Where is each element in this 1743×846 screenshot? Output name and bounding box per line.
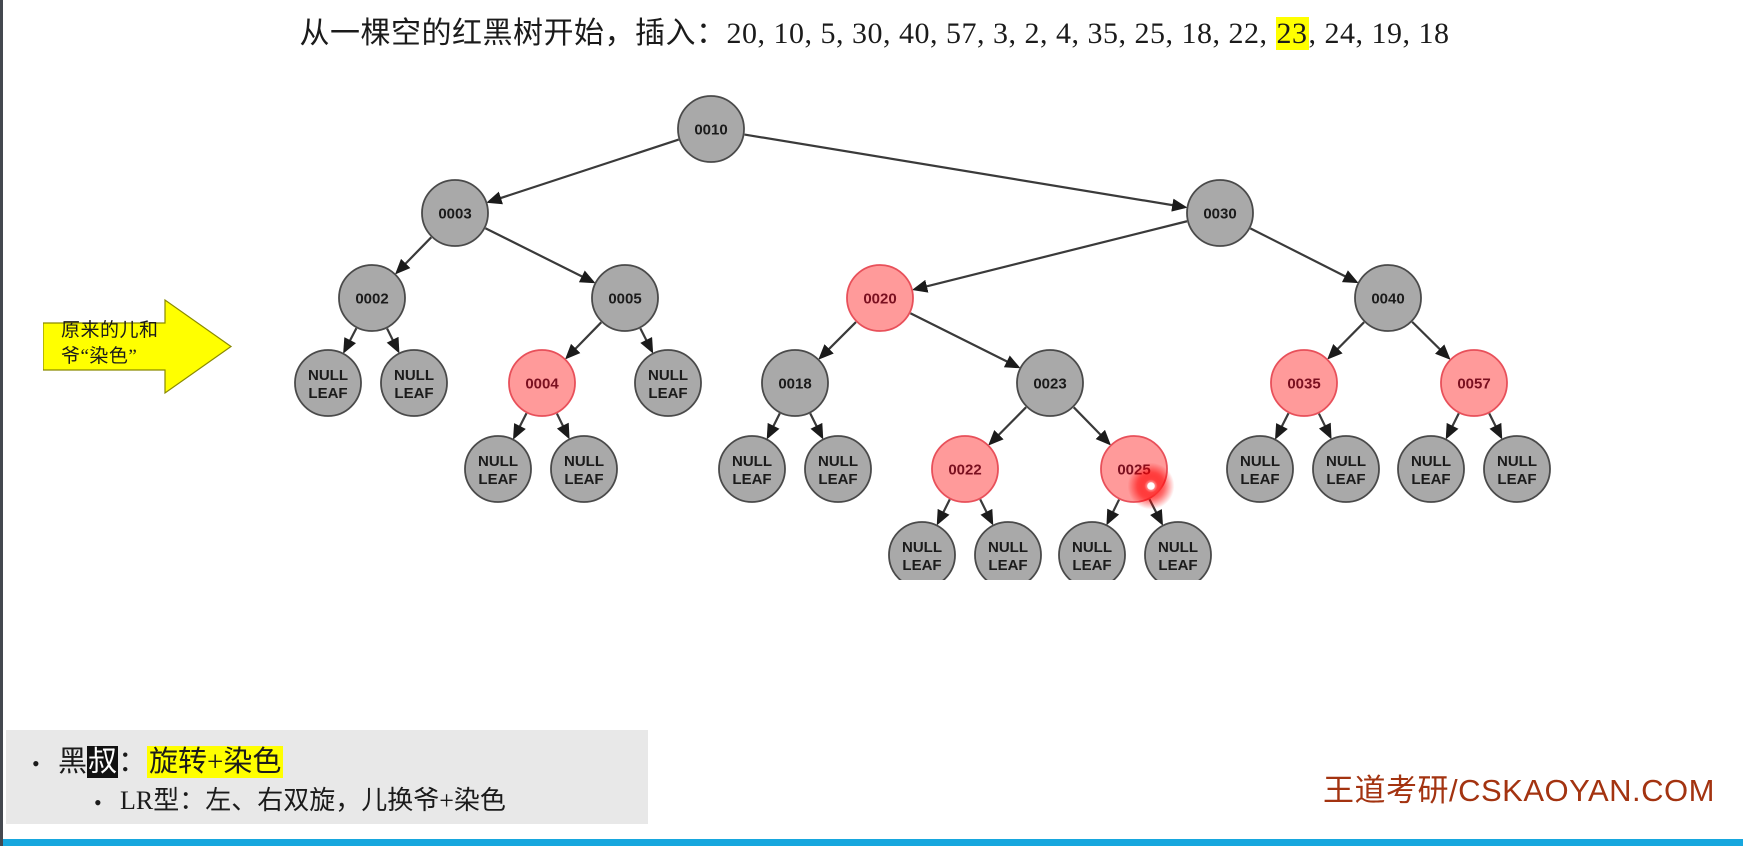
tree-edge (345, 328, 357, 351)
tree-edge (1489, 413, 1501, 436)
tree-node-label: 0057 (1457, 376, 1490, 393)
null-leaf-line-1: NULL (902, 539, 942, 556)
note-colon: ： (118, 746, 147, 778)
null-leaf-node: NULLLEAF (635, 350, 701, 416)
tree-edge (485, 228, 592, 282)
callout-arrow-shape (43, 300, 231, 393)
tree-edge (1412, 322, 1448, 358)
tree-node-0003[interactable]: 0003 (422, 180, 488, 246)
tree-edge (1447, 413, 1459, 436)
null-leaf-node: NULLLEAF (1145, 522, 1211, 580)
title-sequence-before: 20, 10, 5, 30, 40, 57, 3, 2, 4, 35, 25, … (727, 17, 1276, 50)
tree-edge (745, 135, 1185, 208)
null-leaf-line-1: NULL (988, 539, 1028, 556)
null-leaf-node: NULLLEAF (975, 522, 1041, 580)
null-leaf-line-2: LEAF (988, 557, 1027, 574)
title-sequence-after: , 24, 19, 18 (1309, 17, 1450, 50)
null-leaf-node: NULLLEAF (1484, 436, 1550, 502)
tree-node-0035[interactable]: 0035 (1271, 350, 1337, 416)
null-leaf-node: NULLLEAF (1227, 436, 1293, 502)
null-leaf-line-2: LEAF (394, 385, 433, 402)
null-leaf-line-2: LEAF (1411, 471, 1450, 488)
tree-edge (938, 499, 950, 522)
title-prefix: 从一棵空的红黑树开始，插入： (300, 17, 727, 50)
null-leaf-line-1: NULL (1240, 453, 1280, 470)
null-leaf-line-1: NULL (394, 367, 434, 384)
tree-edge (915, 221, 1187, 289)
note-highlighted-text: 旋转+染色 (147, 746, 283, 778)
tree-node-0057[interactable]: 0057 (1441, 350, 1507, 416)
tree-node-label: 0004 (525, 376, 559, 393)
null-leaf-line-1: NULL (478, 453, 518, 470)
null-leaf-line-1: NULL (308, 367, 348, 384)
tree-edge (810, 413, 822, 436)
tree-edge (910, 313, 1017, 367)
tree-edge (1074, 407, 1109, 443)
bottom-accent-rule (3, 839, 1743, 846)
tree-node-label: 0023 (1033, 376, 1066, 393)
tree-edge (557, 414, 568, 437)
null-leaf-line-2: LEAF (1158, 557, 1197, 574)
null-leaf-line-2: LEAF (308, 385, 347, 402)
null-leaf-line-2: LEAF (732, 471, 771, 488)
tree-edge (1250, 228, 1356, 281)
tree-edge (990, 407, 1026, 443)
tree-node-label: 0040 (1371, 291, 1404, 308)
tree-node-0010[interactable]: 0010 (678, 96, 744, 162)
null-leaf-line-1: NULL (1158, 539, 1198, 556)
bullet-icon: • (32, 751, 58, 777)
tree-node-label: 0022 (948, 462, 981, 479)
tree-edge (387, 328, 398, 350)
null-leaf-line-1: NULL (1497, 453, 1537, 470)
tree-node-0022[interactable]: 0022 (932, 436, 998, 502)
tree-node-0030[interactable]: 0030 (1187, 180, 1253, 246)
notes-panel: •黑叔：旋转+染色 •LR型：左、右双旋，儿换爷+染色 (6, 730, 648, 824)
note-secondary-text: LR型：左、右双旋，儿换爷+染色 (120, 786, 506, 815)
null-leaf-line-2: LEAF (902, 557, 941, 574)
tree-node-0023[interactable]: 0023 (1017, 350, 1083, 416)
null-leaf-line-2: LEAF (818, 471, 857, 488)
note-line-primary: •黑叔：旋转+染色 (32, 738, 283, 780)
tree-node-label: 0005 (608, 291, 641, 308)
red-black-tree-diagram: 0010000300300002000500200040000400180023… (3, 60, 1743, 580)
null-leaf-node: NULLLEAF (719, 436, 785, 502)
null-leaf-line-1: NULL (1326, 453, 1366, 470)
null-leaf-line-2: LEAF (1326, 471, 1365, 488)
null-leaf-line-2: LEAF (1240, 471, 1279, 488)
null-leaf-line-2: LEAF (648, 385, 687, 402)
null-leaf-line-2: LEAF (478, 471, 517, 488)
tree-node-0002[interactable]: 0002 (339, 265, 405, 331)
tree-node-0004[interactable]: 0004 (509, 350, 575, 416)
null-leaf-line-1: NULL (818, 453, 858, 470)
tree-node-label: 0035 (1287, 376, 1320, 393)
tree-edge (1108, 500, 1119, 523)
null-leaf-node: NULLLEAF (381, 350, 447, 416)
note-plain-text: 黑 (58, 746, 87, 778)
slide-canvas: 从一棵空的红黑树开始，插入：20, 10, 5, 30, 40, 57, 3, … (0, 0, 1743, 846)
null-leaf-line-1: NULL (1072, 539, 1112, 556)
note-line-secondary: •LR型：左、右双旋，儿换爷+染色 (94, 780, 506, 817)
title-highlighted-value: 23 (1276, 17, 1309, 50)
tree-edge (820, 322, 856, 358)
tree-node-label: 0003 (438, 206, 471, 223)
tree-edge (397, 237, 431, 272)
null-leaf-line-2: LEAF (1497, 471, 1536, 488)
tree-node-label: 0018 (778, 376, 811, 393)
page-title: 从一棵空的红黑树开始，插入：20, 10, 5, 30, 40, 57, 3, … (3, 8, 1743, 52)
tree-edge (489, 140, 678, 202)
tree-edge (640, 328, 651, 351)
tree-node-layer: 0010000300300002000500200040000400180023… (295, 96, 1550, 580)
null-leaf-node: NULLLEAF (295, 350, 361, 416)
tree-node-label: 0010 (694, 122, 727, 139)
null-leaf-line-1: NULL (732, 453, 772, 470)
null-leaf-node: NULLLEAF (1398, 436, 1464, 502)
watermark: 王道考研/CSKAOYAN.COM (1323, 765, 1715, 810)
tree-edge (514, 413, 526, 437)
null-leaf-line-1: NULL (648, 367, 688, 384)
tree-node-label: 0020 (863, 291, 896, 308)
laser-pointer-layer (1128, 463, 1175, 510)
tree-edge (768, 413, 780, 436)
laser-pointer-dot (1147, 482, 1155, 490)
tree-edge (567, 322, 601, 357)
tree-node-0005[interactable]: 0005 (592, 265, 658, 331)
null-leaf-node: NULLLEAF (1059, 522, 1125, 580)
tree-edge (1276, 413, 1288, 437)
tree-edge (1329, 322, 1364, 357)
callout-arrow (43, 298, 233, 395)
tree-node-label: 0002 (355, 291, 388, 308)
sub-bullet-icon: • (94, 790, 120, 816)
null-leaf-node: NULLLEAF (805, 436, 871, 502)
null-leaf-line-2: LEAF (1072, 557, 1111, 574)
null-leaf-node: NULLLEAF (1313, 436, 1379, 502)
tree-edge (1319, 414, 1330, 437)
null-leaf-node: NULLLEAF (465, 436, 531, 502)
null-leaf-line-1: NULL (1411, 453, 1451, 470)
null-leaf-node: NULLLEAF (889, 522, 955, 580)
note-inverted-text: 叔 (87, 746, 118, 778)
tree-edge (980, 499, 992, 522)
tree-node-label: 0030 (1203, 206, 1236, 223)
tree-node-0018[interactable]: 0018 (762, 350, 828, 416)
null-leaf-line-2: LEAF (564, 471, 603, 488)
tree-node-0020[interactable]: 0020 (847, 265, 913, 331)
null-leaf-line-1: NULL (564, 453, 604, 470)
tree-node-0040[interactable]: 0040 (1355, 265, 1421, 331)
null-leaf-node: NULLLEAF (551, 436, 617, 502)
